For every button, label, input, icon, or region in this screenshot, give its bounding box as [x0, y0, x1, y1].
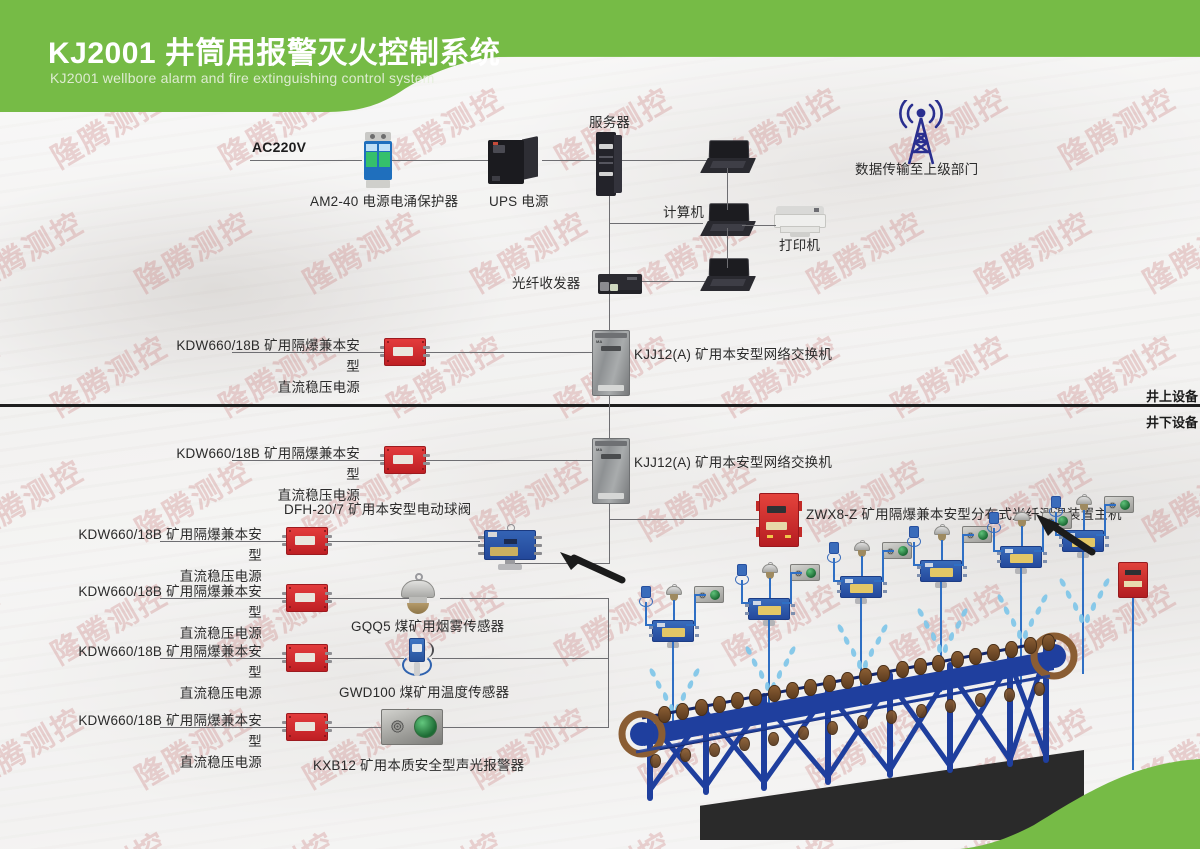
power-supply-label-ug-3: KDW660/18B 矿用隔爆兼本安型 直流稳压电源 — [74, 582, 262, 645]
smoke-sensor-gqq5 — [396, 573, 440, 617]
zwx-fiber-temp-host — [756, 493, 802, 547]
conveyor-roller — [768, 685, 781, 702]
header: KJ2001 井筒用报警灭火控制系统 KJ2001 wellbore alarm… — [0, 0, 1200, 112]
wire-server-to-laptop1 — [622, 160, 712, 161]
water-droplet — [1002, 605, 1010, 615]
conveyor-return-roller — [945, 699, 956, 713]
conveyor-return-roller — [1034, 682, 1045, 696]
conveyor-return-roller — [886, 710, 897, 724]
annotation-arrow-left — [556, 548, 626, 584]
water-droplet — [1102, 577, 1111, 587]
wire-ug-vertical-trunk — [608, 598, 609, 728]
conveyor-roller — [951, 651, 964, 668]
temperature-sensor-gwd100 — [396, 636, 436, 680]
ps3-line2: 直流稳压电源 — [180, 626, 262, 641]
conveyor-return-roller — [1004, 688, 1015, 702]
diagram-canvas: 隆腾测控隆腾测控隆腾测控隆腾测控隆腾测控隆腾测控隆腾测控隆腾测控隆腾测控隆腾测控… — [0, 0, 1200, 849]
wire-ac-to-spd — [250, 160, 362, 161]
spd-device-am2-40 — [363, 132, 393, 188]
wire-fiber-to-laptop3 — [642, 281, 704, 282]
water-droplet — [922, 619, 930, 629]
power-supply-label-surface: KDW660/18B 矿用隔爆兼本安型 直流稳压电源 — [172, 336, 360, 399]
water-droplet — [1090, 602, 1097, 612]
pipe-red-box-riser — [1132, 598, 1134, 770]
printer-label: 打印机 — [779, 236, 820, 257]
conveyor-roller — [859, 668, 872, 685]
ups-device — [488, 136, 538, 184]
conveyor-roller — [676, 703, 689, 720]
switch-label-surface: KJJ12(A) 矿用本安型网络交换机 — [634, 345, 832, 366]
audible-alarm-label: KXB12 矿用本质安全型声光报警器 — [313, 756, 524, 777]
power-supply-ug-3 — [280, 584, 334, 612]
switch-device-surface: MA — [592, 330, 630, 396]
annotation-arrow-right — [1030, 512, 1100, 556]
conveyor-roller — [1042, 634, 1055, 651]
computer-label: 计算机 — [663, 203, 704, 224]
conveyor-return-roller — [916, 704, 927, 718]
conveyor-roller — [969, 648, 982, 665]
ps-line1: KDW660/18B 矿用隔爆兼本安型 — [176, 338, 360, 374]
wire-computer-bus — [609, 223, 703, 224]
water-droplet — [1010, 618, 1017, 628]
page-subtitle: KJ2001 wellbore alarm and fire extinguis… — [50, 70, 435, 86]
smoke-sensor-label: GQQ5 煤矿用烟雾传感器 — [351, 617, 504, 638]
ball-valve-dfh — [476, 528, 544, 570]
conveyor-roller — [1005, 641, 1018, 658]
water-droplet — [1034, 605, 1042, 615]
water-droplet — [954, 619, 962, 629]
conveyor-roller — [749, 689, 762, 706]
wire-laptop1-laptop2 — [727, 168, 728, 210]
audible-alarm-kxb12 — [381, 709, 443, 745]
ball-valve-label: DFH-20/7 矿用本安型电动球阀 — [284, 500, 471, 521]
water-droplet — [1085, 614, 1091, 623]
uplink-label: 数据传输至上级部门 — [855, 160, 978, 181]
conveyor-return-roller — [739, 737, 750, 751]
spd-label: AM2-40 电源电涌保护器 — [310, 192, 458, 213]
water-droplet — [996, 593, 1005, 603]
conveyor-roller — [658, 706, 671, 723]
ac-power-label: AC220V — [252, 137, 306, 159]
ups-label: UPS 电源 — [489, 192, 549, 213]
conveyor-roller — [695, 699, 708, 716]
wire-laptop2-printer — [742, 225, 776, 226]
wire-switch-to-zwx — [609, 519, 759, 520]
surface-underground-divider — [0, 404, 1200, 407]
conveyor-return-roller — [680, 748, 691, 762]
power-supply-surface — [378, 338, 432, 366]
conveyor-roller — [987, 644, 1000, 661]
power-supply-ug-1 — [378, 446, 432, 474]
conveyor-roller — [731, 692, 744, 709]
wire-alarm-to-trunk — [442, 727, 609, 728]
conveyor-roller — [841, 672, 854, 689]
ps4-line1: KDW660/18B 矿用隔爆兼本安型 — [78, 644, 262, 680]
water-droplet — [960, 607, 969, 617]
power-supply-label-ug-1: KDW660/18B 矿用隔爆兼本安型 直流稳压电源 — [172, 444, 360, 507]
conveyor-return-roller — [768, 732, 779, 746]
fiber-transceiver-label: 光纤收发器 — [512, 274, 581, 295]
conveyor-roller — [877, 665, 890, 682]
ps1-line1: KDW660/18B 矿用隔爆兼本安型 — [176, 446, 360, 482]
power-supply-label-ug-4: KDW660/18B 矿用隔爆兼本安型 直流稳压电源 — [74, 642, 262, 705]
conveyor-roller — [914, 658, 927, 675]
conveyor-roller — [896, 661, 909, 678]
wire-smoke-to-trunk — [440, 598, 609, 599]
conveyor-roller — [932, 655, 945, 672]
ps5-line1: KDW660/18B 矿用隔爆兼本安型 — [78, 713, 262, 749]
water-droplet — [1028, 618, 1035, 628]
conveyor-return-roller — [709, 743, 720, 757]
wire-ups-to-server — [542, 160, 600, 161]
conveyor-roller — [823, 675, 836, 692]
water-droplet — [1058, 577, 1067, 587]
water-droplet — [916, 607, 925, 617]
conveyor-return-roller — [857, 715, 868, 729]
divider-label-below: 井下设备 — [1146, 412, 1198, 431]
power-supply-label-ug-2: KDW660/18B 矿用隔爆兼本安型 直流稳压电源 — [74, 525, 262, 588]
antenna-tower-icon — [885, 100, 957, 166]
conveyor-roller — [786, 682, 799, 699]
conveyor-roller — [1024, 637, 1037, 654]
conveyor-belt-assembly — [614, 630, 1084, 840]
wire-spd-to-ups — [392, 160, 492, 161]
divider-label-above: 井上设备 — [1146, 386, 1198, 405]
water-droplet — [1064, 589, 1072, 599]
conveyor-return-roller — [975, 693, 986, 707]
switch-device-underground: MA — [592, 438, 630, 504]
conveyor-return-roller — [798, 726, 809, 740]
ps4-line2: 直流稳压电源 — [180, 686, 262, 701]
conveyor-return-roller — [650, 754, 661, 768]
switch-label-underground: KJJ12(A) 矿用本安型网络交换机 — [634, 453, 832, 474]
ps2-line1: KDW660/18B 矿用隔爆兼本安型 — [78, 527, 262, 563]
power-supply-ug-5 — [280, 713, 334, 741]
water-droplet — [1072, 602, 1079, 612]
ps3-line1: KDW660/18B 矿用隔爆兼本安型 — [78, 584, 262, 620]
conveyor-roller — [713, 696, 726, 713]
server-device — [596, 132, 622, 196]
conveyor-roller — [804, 679, 817, 696]
temperature-sensor-label: GWD100 煤矿用温度传感器 — [339, 683, 509, 704]
water-droplet — [1096, 589, 1104, 599]
power-supply-ug-4 — [280, 644, 334, 672]
power-supply-label-ug-5: KDW660/18B 矿用隔爆兼本安型 直流稳压电源 — [74, 711, 262, 774]
conveyor-structure — [614, 630, 1084, 840]
printer-device — [774, 206, 826, 240]
fiber-transceiver-device — [598, 272, 642, 298]
page-title: KJ2001 井筒用报警灭火控制系统 — [48, 28, 500, 72]
red-control-box-right — [1118, 562, 1148, 598]
ps-line2: 直流稳压电源 — [278, 380, 360, 395]
ps5-line2: 直流稳压电源 — [180, 755, 262, 770]
wire-temp-to-trunk — [432, 658, 609, 659]
conveyor-return-roller — [827, 721, 838, 735]
wire-laptop2-laptop3 — [727, 228, 728, 268]
power-supply-ug-2 — [280, 527, 334, 555]
server-label: 服务器 — [589, 113, 630, 134]
